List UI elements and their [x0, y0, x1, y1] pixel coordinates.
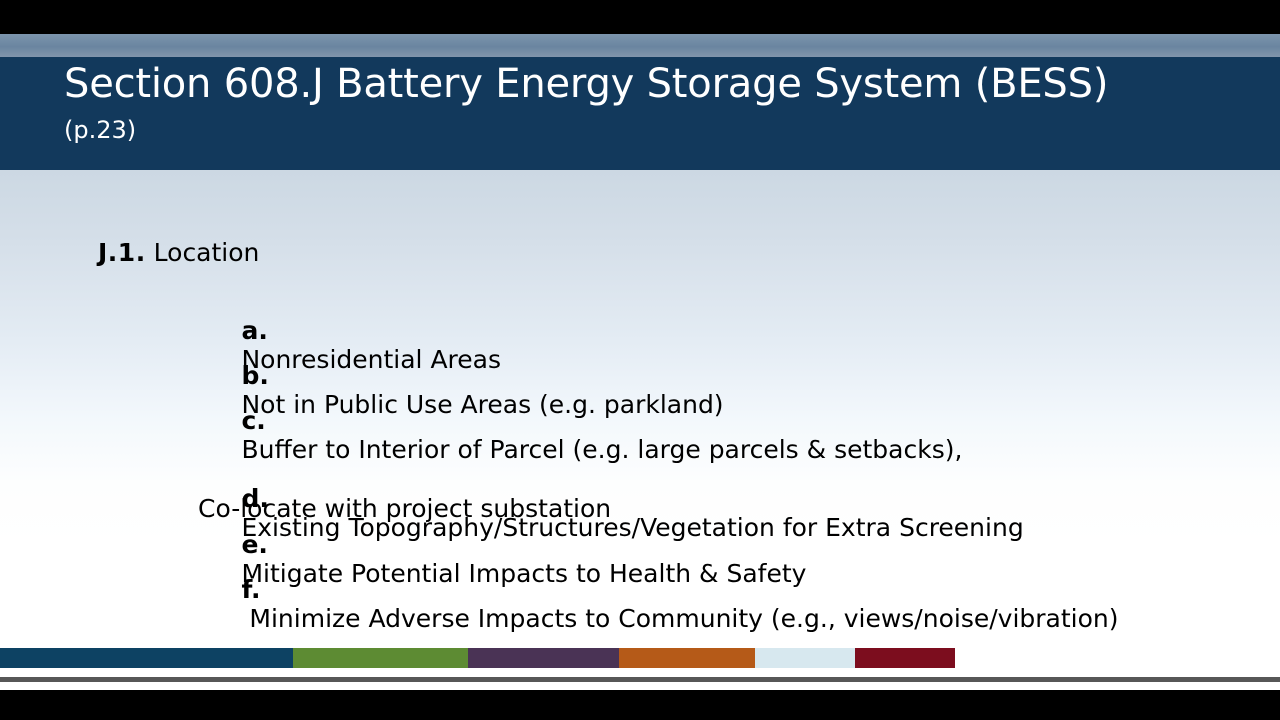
list-marker: c.	[241, 406, 265, 436]
list-item-label: Minimize Adverse Impacts to Community (e…	[241, 604, 1118, 633]
footer-segment-navy	[0, 648, 293, 668]
footer-spacer-bottom	[0, 682, 1280, 690]
footer-color-bar	[0, 648, 1280, 668]
footer-segment-purple	[468, 648, 619, 668]
list-marker: J.1.	[98, 238, 146, 267]
footer-spacer-top	[0, 668, 1280, 677]
slide-body: J.1. Location a. Nonresidential Areas b.…	[0, 170, 1280, 690]
footer-segment-pale-blue	[755, 648, 855, 668]
footer-segment-orange	[619, 648, 755, 668]
list-item-label: Location	[154, 238, 260, 267]
slide-root: Section 608.J Battery Energy Storage Sys…	[0, 0, 1280, 720]
presentation-slide: Section 608.J Battery Energy Storage Sys…	[0, 34, 1280, 690]
letterbox-top	[0, 0, 1280, 34]
page-reference: (p.23)	[64, 118, 136, 142]
footer-segment-white	[955, 648, 1280, 668]
letterbox-bottom	[0, 690, 1280, 720]
list-item-j1: J.1. Location	[98, 240, 259, 266]
header-accent-band	[0, 34, 1280, 57]
page-title: Section 608.J Battery Energy Storage Sys…	[64, 64, 1108, 104]
list-item-f: f. Minimize Adverse Impacts to Community…	[162, 545, 1119, 663]
list-marker: f.	[241, 575, 260, 605]
footer-segment-crimson	[855, 648, 955, 668]
footer-segment-green	[293, 648, 468, 668]
